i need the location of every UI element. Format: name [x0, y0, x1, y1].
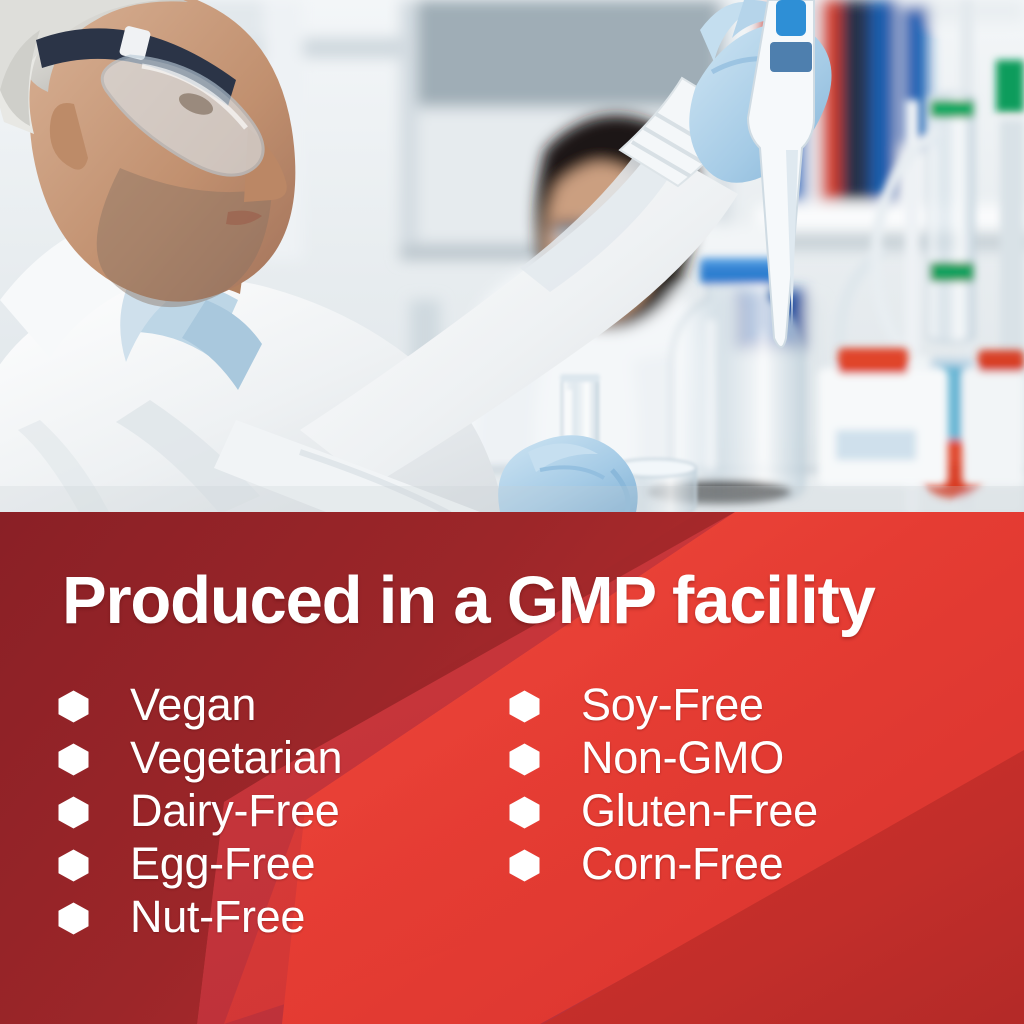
claim-label: Corn-Free	[581, 841, 783, 886]
gmp-banner-panel: Produced in a GMP facility Vegan	[0, 512, 1024, 1024]
hexagon-bullet-icon	[58, 743, 89, 776]
hexagon-bullet-icon	[509, 796, 540, 829]
hexagon-bullet-icon	[58, 902, 89, 935]
claim-label: Egg-Free	[130, 841, 315, 886]
hexagon-bullet-icon	[509, 690, 540, 723]
chemical-containers	[818, 348, 1024, 486]
claim-label: Vegetarian	[130, 735, 342, 780]
list-item: Nut-Free	[58, 892, 342, 945]
claim-label: Nut-Free	[130, 894, 305, 939]
list-item: Non-GMO	[509, 733, 818, 786]
claim-label: Gluten-Free	[581, 788, 818, 833]
claim-label: Soy-Free	[581, 682, 764, 727]
claims-column-left: Vegan Vegetarian Dairy-Free	[58, 680, 342, 945]
list-item: Gluten-Free	[509, 786, 818, 839]
lab-photo	[0, 0, 1024, 514]
list-item: Vegetarian	[58, 733, 342, 786]
claims-column-right: Soy-Free Non-GMO Gluten-Free	[509, 680, 818, 892]
hexagon-bullet-icon	[509, 743, 540, 776]
claim-label: Dairy-Free	[130, 788, 340, 833]
hexagon-bullet-icon	[58, 796, 89, 829]
lab-photo-illustration	[0, 0, 1024, 514]
hexagon-bullet-icon	[58, 690, 89, 723]
claim-label: Non-GMO	[581, 735, 784, 780]
claim-label: Vegan	[130, 682, 256, 727]
list-item: Vegan	[58, 680, 342, 733]
list-item: Dairy-Free	[58, 786, 342, 839]
page-title: Produced in a GMP facility	[62, 567, 982, 634]
list-item: Soy-Free	[509, 680, 818, 733]
hexagon-bullet-icon	[58, 849, 89, 882]
hexagon-bullet-icon	[509, 849, 540, 882]
list-item: Egg-Free	[58, 839, 342, 892]
banner-canvas: Produced in a GMP facility Vegan	[0, 0, 1024, 1024]
list-item: Corn-Free	[509, 839, 818, 892]
